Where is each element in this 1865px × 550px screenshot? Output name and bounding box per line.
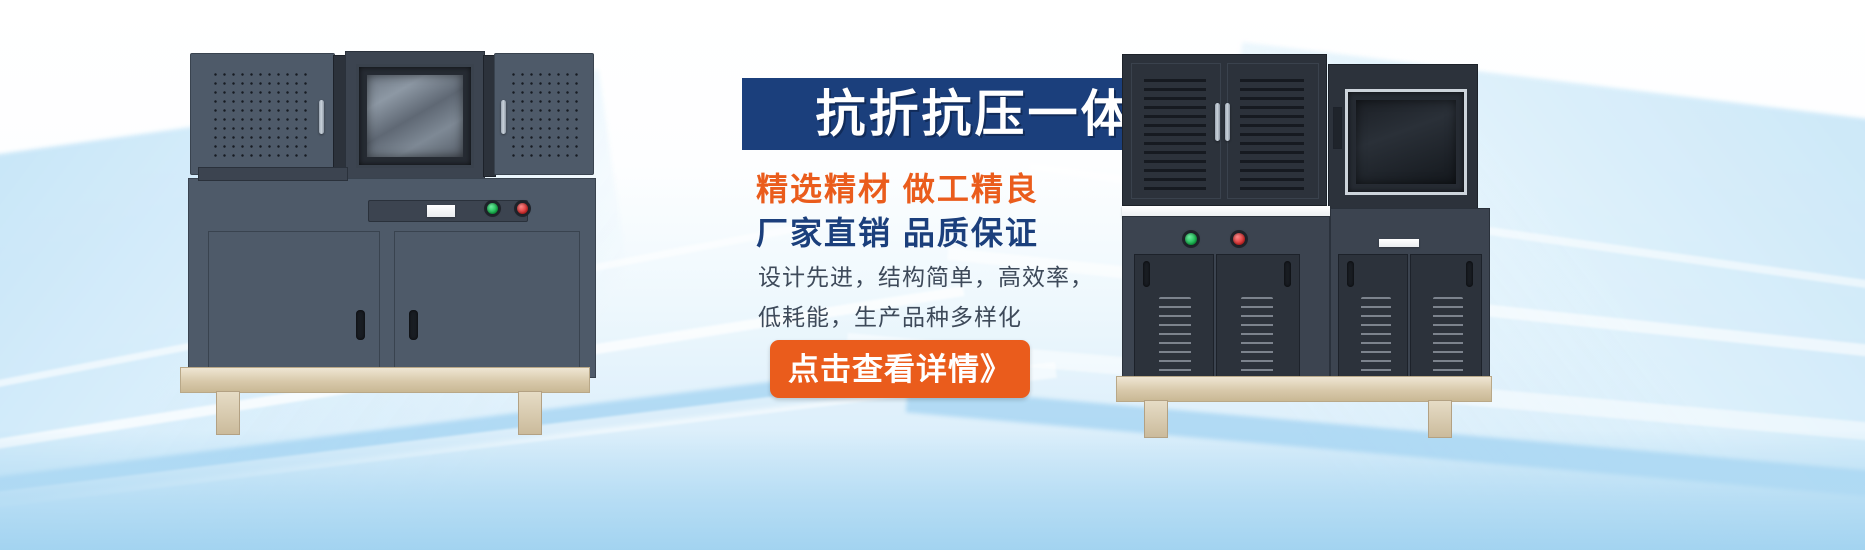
perforated-vent-panel-4 [1240, 74, 1304, 190]
right-indicator-light-green [1185, 233, 1197, 245]
left-machine-top-ledge [198, 167, 348, 181]
right-upper-door-right [1227, 63, 1319, 199]
right-lower-door-1 [1134, 254, 1214, 380]
view-details-label: 点击查看详情》 [788, 354, 1012, 385]
monitor-bezel [356, 64, 474, 168]
cabinet-handle-2 [501, 100, 506, 134]
right-upper-cabinet [1122, 54, 1327, 206]
product-image-right [1110, 48, 1570, 438]
lower-cabinet-handle-right [409, 310, 418, 340]
right-upper-door-left [1131, 63, 1221, 199]
pallet-leg-left [216, 391, 240, 435]
louver-vent-4 [1433, 297, 1463, 373]
lower-cabinet-door-right [394, 231, 580, 376]
indicator-light-red [517, 203, 528, 214]
right-led-red-housing [1230, 230, 1248, 248]
louver-vent-3 [1361, 297, 1391, 373]
louver-vent-1 [1159, 297, 1191, 373]
lower-cabinet-handle-left [356, 310, 365, 340]
right-cabinet-handle-b [1225, 103, 1230, 141]
control-drawer-label [427, 205, 455, 217]
indicator-light-green [487, 203, 498, 214]
control-drawer [368, 200, 528, 222]
perforated-vent-panel [209, 68, 309, 162]
promo-banner-stage: 抗折抗压一体机 精选精材 做工精良 厂家直销 品质保证 设计先进，结构简单，高效… [0, 0, 1865, 550]
right-lower-handle-2 [1284, 261, 1291, 287]
right-cabinet-handle-a [1215, 103, 1220, 141]
monitor-enclosure [345, 51, 485, 179]
view-details-button[interactable]: 点击查看详情》 [770, 340, 1030, 398]
product-image-left [170, 45, 590, 435]
wooden-pallet [180, 367, 590, 393]
lower-cabinet-door-left [208, 231, 380, 376]
right-monitor-enclosure [1328, 64, 1478, 210]
right-lower-door-2 [1216, 254, 1300, 380]
right-monitor-screen [1356, 100, 1456, 184]
right-lower-handle-4 [1466, 261, 1473, 287]
perforated-vent-panel-2 [507, 68, 579, 162]
cabinet-handle [319, 100, 324, 134]
right-monitor-bezel [1345, 89, 1467, 195]
right-lower-handle-1 [1143, 261, 1150, 287]
left-upper-cabinet-door-2 [494, 53, 594, 175]
led-red-housing [514, 200, 531, 217]
right-pallet-leg-left [1144, 400, 1168, 438]
right-led-green-housing [1182, 230, 1200, 248]
right-body-label [1379, 239, 1419, 247]
right-indicator-light-red [1233, 233, 1245, 245]
perforated-vent-panel-3 [1144, 74, 1206, 190]
right-lower-door-3 [1338, 254, 1408, 380]
left-upper-cabinet-door [190, 53, 335, 175]
right-pallet-leg-right [1428, 400, 1452, 438]
led-green-housing [484, 200, 501, 217]
monitor-screen [367, 75, 463, 157]
right-lower-handle-3 [1347, 261, 1354, 287]
right-wooden-pallet [1116, 376, 1492, 402]
right-monitor-side-buttons [1333, 107, 1342, 149]
pallet-leg-right [518, 391, 542, 435]
right-lower-door-4 [1410, 254, 1482, 380]
louver-vent-2 [1241, 297, 1273, 373]
